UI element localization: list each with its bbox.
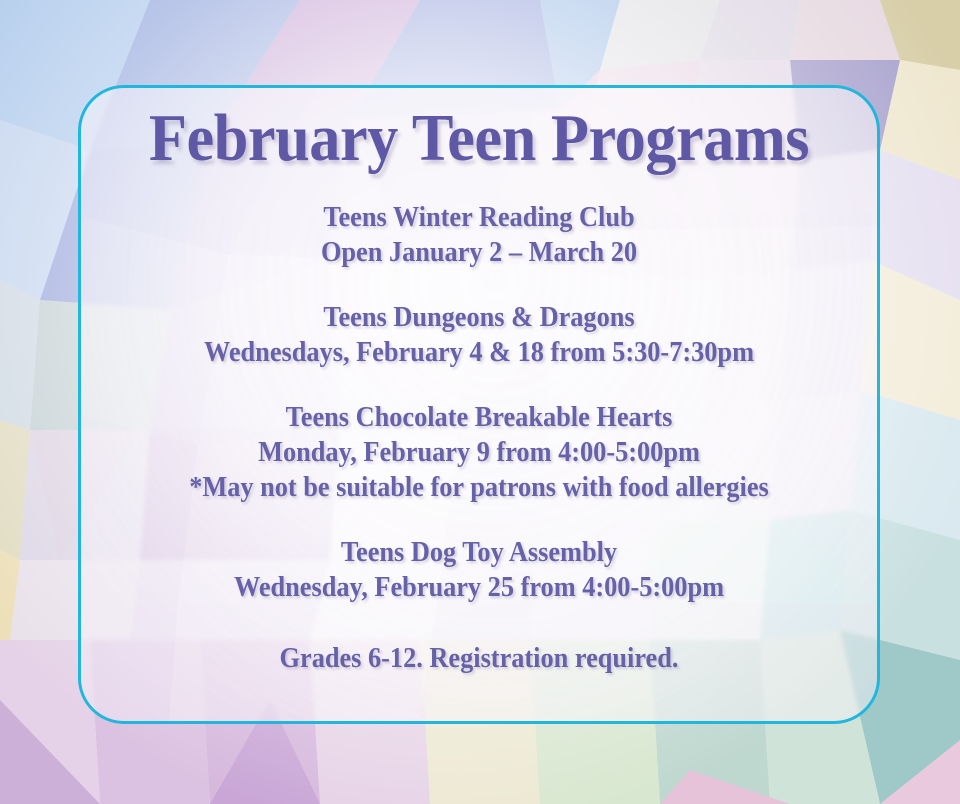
registration-note: Grades 6-12. Registration required. (105, 641, 853, 676)
program-name: Teens Winter Reading Club (105, 200, 853, 235)
program-item: Teens Dungeons & Dragons Wednesdays, Feb… (81, 300, 877, 370)
poster-canvas: February Teen Programs Teens Winter Read… (0, 0, 960, 804)
program-schedule: Monday, February 9 from 4:00-5:00pm (105, 435, 853, 470)
program-schedule: Wednesday, February 25 from 4:00-5:00pm (105, 570, 853, 605)
program-card: February Teen Programs Teens Winter Read… (78, 85, 880, 724)
program-list: Teens Winter Reading Club Open January 2… (81, 200, 877, 676)
program-item: Teens Dog Toy Assembly Wednesday, Februa… (81, 535, 877, 605)
program-schedule: Wednesdays, February 4 & 18 from 5:30-7:… (105, 335, 853, 370)
page-title: February Teen Programs (109, 105, 849, 172)
program-schedule: Open January 2 – March 20 (105, 235, 853, 270)
program-note: *May not be suitable for patrons with fo… (105, 470, 853, 505)
program-name: Teens Chocolate Breakable Hearts (105, 400, 853, 435)
registration-note-block: Grades 6-12. Registration required. (81, 641, 877, 676)
program-name: Teens Dungeons & Dragons (105, 300, 853, 335)
program-name: Teens Dog Toy Assembly (105, 535, 853, 570)
program-item: Teens Chocolate Breakable Hearts Monday,… (81, 400, 877, 505)
program-item: Teens Winter Reading Club Open January 2… (81, 200, 877, 270)
